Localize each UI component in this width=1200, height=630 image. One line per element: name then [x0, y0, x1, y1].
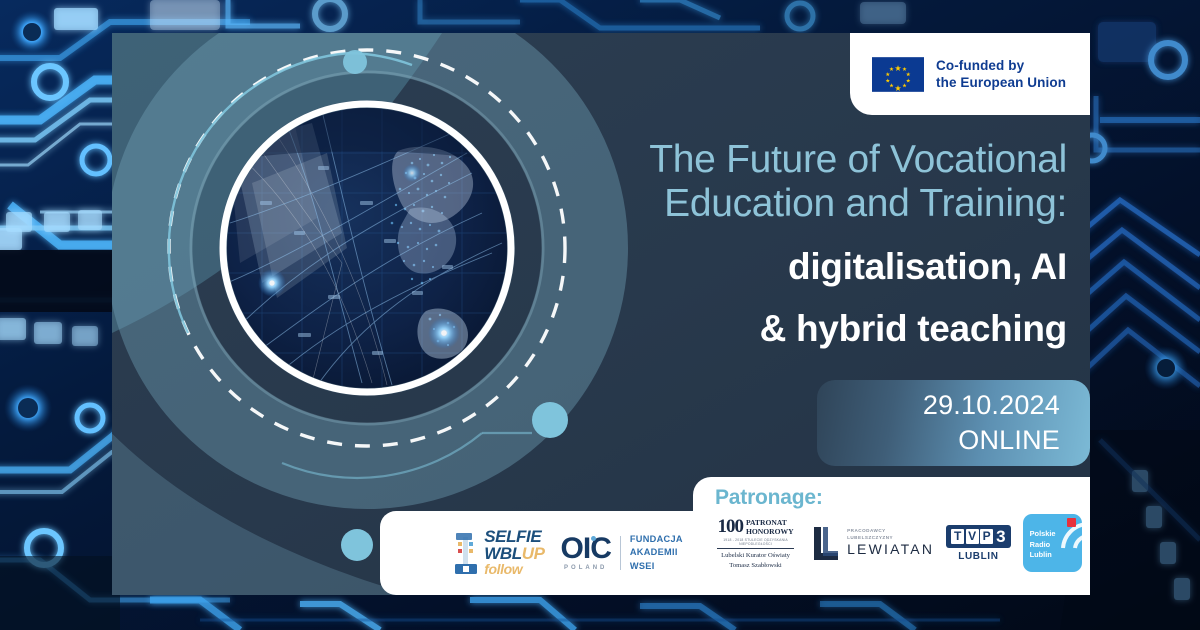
tvp-letter-t: T [951, 529, 964, 544]
lewiatan-logo: PRACODAWCY LUBELSZCZYZNY LEWIATAN [812, 523, 934, 563]
polskie-radio-lublin-logo: Polskie Radio Lublin [1023, 514, 1082, 572]
patronat-label: PATRONAT HONOROWY [746, 518, 794, 537]
oic-wordmark: OIC POLAND [561, 535, 611, 571]
eu-cofunded-badge: Co-funded by the European Union [850, 33, 1090, 115]
radio-accent-square [1067, 518, 1076, 527]
main-poster-card: Co-funded by the European Union The Futu… [112, 33, 1090, 595]
patronat-years: 1918 - 2018 STULECIE ODZYSKANIA NIEPODLE… [711, 538, 800, 546]
tvp3-lublin-logo: T V P 3 LUBLIN [946, 525, 1010, 562]
lewiatan-wordmark: PRACODAWCY LUBELSZCZYZNY LEWIATAN [847, 528, 934, 557]
tvp-letters: T V P [951, 529, 993, 544]
patronat-honorowy-logo: 100 PATRONAT HONOROWY 1918 - 2018 STULEC… [711, 516, 800, 569]
oic-dot-icon [591, 536, 596, 541]
selfie-tower-icon [453, 531, 479, 575]
radio-wordmark: Polskie Radio Lublin [1030, 529, 1056, 561]
patronage-card: Patronage: 100 PATRONAT HONOROWY 1918 - … [693, 477, 1090, 595]
poster-title-block: The Future of Vocational Education and T… [567, 138, 1067, 352]
event-date: 29.10.2024 [923, 388, 1060, 423]
patronat-person: Lubelski Kurator Oświaty Tomasz Szabłows… [711, 551, 800, 569]
oic-divider [620, 536, 621, 570]
oic-foundation-name: FUNDACJA AKADEMII WSEI [630, 533, 683, 573]
oic-poland-logo: OIC POLAND FUNDACJA AKADEMII WSEI [545, 533, 683, 573]
patronat-hundred: 100 [717, 516, 743, 538]
lewiatan-name: LEWIATAN [847, 542, 934, 557]
selfie-wordmark: SELFIE WBLUP follow [484, 529, 544, 576]
selfie-wbl-followup-logo: SELFIE WBLUP follow [447, 529, 544, 576]
patronage-logo-row: 100 PATRONAT HONOROWY 1918 - 2018 STULEC… [693, 510, 1090, 572]
selfie-word-3: follow [484, 563, 544, 577]
eu-badge-label: Co-funded by the European Union [936, 57, 1066, 92]
subtitle-line-1: digitalisation, AI [567, 245, 1067, 289]
tvp-letter-p: P [980, 529, 993, 544]
title-line-2: Education and Training: [567, 182, 1067, 226]
patronage-title: Patronage: [693, 477, 1090, 510]
tvp-box: T V P 3 [946, 525, 1010, 548]
subtitle-line-2: & hybrid teaching [567, 307, 1067, 351]
lewiatan-tagline: PRACODAWCY LUBELSZCZYZNY [847, 528, 934, 542]
oic-letters: OIC [561, 535, 611, 564]
tvp-city: LUBLIN [946, 551, 1010, 562]
title-line-1: The Future of Vocational [567, 138, 1067, 182]
patronat-divider [717, 548, 794, 549]
lewiatan-mark-icon [812, 523, 842, 563]
event-date-badge: 29.10.2024 ONLINE [817, 380, 1090, 466]
oic-country: POLAND [561, 565, 611, 571]
patronat-honorowy-top: 100 PATRONAT HONOROWY [711, 516, 800, 538]
tvp-letter-v: V [966, 529, 979, 544]
european-union-flag-icon [872, 57, 924, 92]
tvp-number: 3 [996, 528, 1005, 545]
event-mode: ONLINE [958, 423, 1060, 458]
